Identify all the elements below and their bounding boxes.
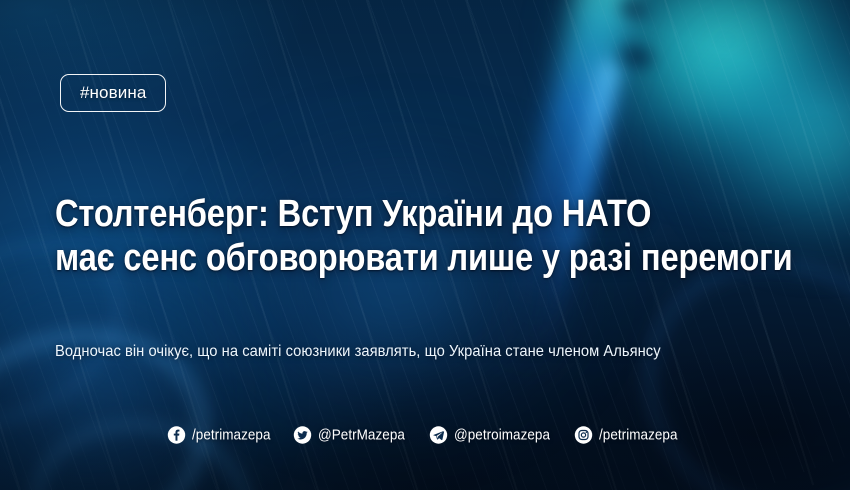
telegram-icon	[429, 426, 448, 445]
social-link-instagram[interactable]: /petrimazepa	[574, 426, 683, 445]
social-handle-twitter: @PetrMazepa	[318, 427, 405, 443]
facebook-icon	[167, 426, 186, 445]
news-card: #новина Столтенберг: Вступ України до НА…	[0, 0, 850, 490]
social-link-twitter[interactable]: @PetrMazepa	[293, 426, 411, 445]
headline: Столтенберг: Вступ України до НАТО має с…	[55, 192, 696, 280]
social-handle-telegram: @petroimazepa	[454, 427, 550, 443]
social-link-facebook[interactable]: /petrimazepa	[167, 426, 276, 445]
tag-badge[interactable]: #новина	[60, 74, 166, 112]
card-content: #новина Столтенберг: Вступ України до НА…	[0, 0, 850, 490]
tag-badge-label: #новина	[80, 83, 146, 103]
headline-line-1: Столтенберг: Вступ України до НАТО	[55, 192, 696, 236]
instagram-icon	[574, 426, 593, 445]
social-handle-facebook: /petrimazepa	[192, 427, 271, 443]
social-link-telegram[interactable]: @petroimazepa	[429, 426, 557, 445]
subtitle: Водночас він очікує, що на саміті союзни…	[55, 341, 754, 363]
twitter-icon	[293, 426, 312, 445]
headline-line-2: має сенс обговорювати лише у разі перемо…	[55, 236, 696, 280]
social-handle-instagram: /petrimazepa	[599, 427, 678, 443]
social-links-row: /petrimazepa @PetrMazepa @petroimazepa	[0, 426, 850, 445]
